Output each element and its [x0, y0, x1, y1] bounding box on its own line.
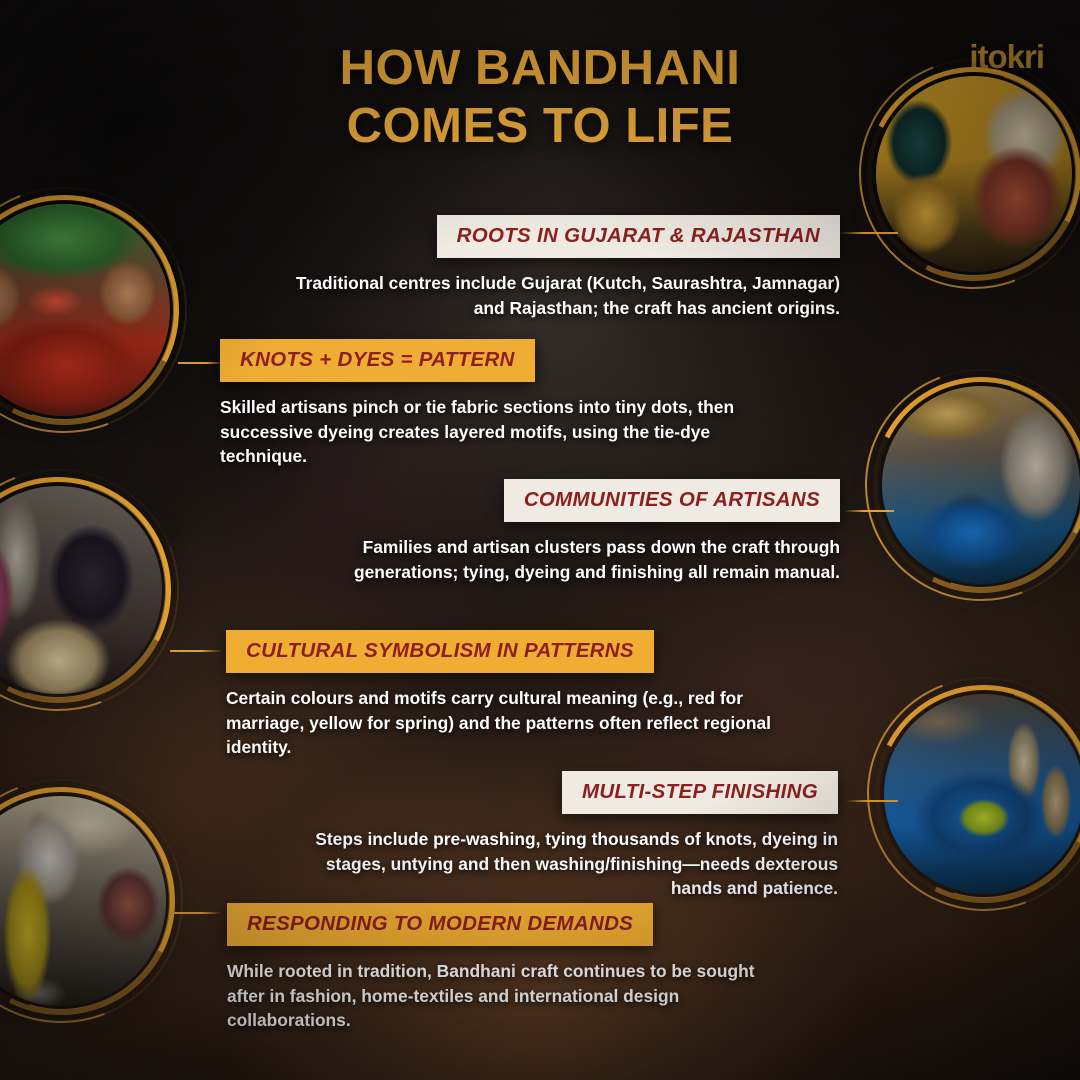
- section-communities-of-artisans: COMMUNITIES OF ARTISANS Families and art…: [280, 479, 840, 584]
- section-cultural-symbolism-in-patterns: CULTURAL SYMBOLISM IN PATTERNS Certain c…: [226, 630, 771, 760]
- photo-image: [0, 796, 166, 1006]
- itokri-logo: itokri: [969, 38, 1044, 76]
- section-responding-to-modern-demands: RESPONDING TO MODERN DEMANDS While roote…: [227, 903, 787, 1033]
- section-body-text: Skilled artisans pinch or tie fabric sec…: [220, 395, 760, 469]
- infographic-poster: HOW BANDHANI COMES TO LIFE itokri: [0, 0, 1080, 1080]
- photo-dyer-at-blue-tub: [882, 386, 1080, 584]
- connector-line-photo-6: [172, 912, 222, 914]
- photo-image: [0, 486, 162, 694]
- photo-disc: [884, 694, 1080, 894]
- title-line-1: HOW BANDHANI: [340, 41, 741, 95]
- photo-disc: [882, 386, 1080, 584]
- connector-line-photo-3: [170, 650, 222, 652]
- photo-hands-tying-red-cloth: [0, 204, 170, 416]
- photo-women-tying-fabric: [876, 76, 1072, 272]
- photo-disc: [876, 76, 1072, 272]
- section-heading-banner: RESPONDING TO MODERN DEMANDS: [227, 903, 653, 946]
- section-heading-banner: ROOTS IN GUJARAT & RAJASTHAN: [437, 215, 840, 258]
- connector-line-photo-2: [178, 362, 226, 364]
- photo-artisan-woman-tying: [0, 486, 162, 694]
- section-roots-in-gujarat-rajasthan: ROOTS IN GUJARAT & RAJASTHAN Traditional…: [270, 215, 840, 320]
- section-knots-dyes-pattern: KNOTS + DYES = PATTERN Skilled artisans …: [220, 339, 760, 469]
- photo-lifting-yellow-skeins: [0, 796, 166, 1006]
- photo-disc: [0, 796, 166, 1006]
- section-body-text: While rooted in tradition, Bandhani craf…: [227, 959, 787, 1033]
- section-heading-banner: COMMUNITIES OF ARTISANS: [504, 479, 840, 522]
- section-body-text: Certain colours and motifs carry cultura…: [226, 686, 771, 760]
- photo-image: [882, 386, 1080, 584]
- section-heading-banner: MULTI-STEP FINISHING: [562, 771, 838, 814]
- section-body-text: Families and artisan clusters pass down …: [280, 535, 840, 584]
- section-heading-banner: KNOTS + DYES = PATTERN: [220, 339, 535, 382]
- photo-image: [884, 694, 1080, 894]
- section-body-text: Traditional centres include Gujarat (Kut…: [270, 271, 840, 320]
- photo-image: [876, 76, 1072, 272]
- section-multi-step-finishing: MULTI-STEP FINISHING Steps include pre-w…: [300, 771, 838, 901]
- section-heading-banner: CULTURAL SYMBOLISM IN PATTERNS: [226, 630, 654, 673]
- photo-indigo-dye-vat: [884, 694, 1080, 894]
- section-body-text: Steps include pre-washing, tying thousan…: [300, 827, 838, 901]
- photo-disc: [0, 486, 162, 694]
- photo-disc: [0, 204, 170, 416]
- photo-image: [0, 204, 170, 416]
